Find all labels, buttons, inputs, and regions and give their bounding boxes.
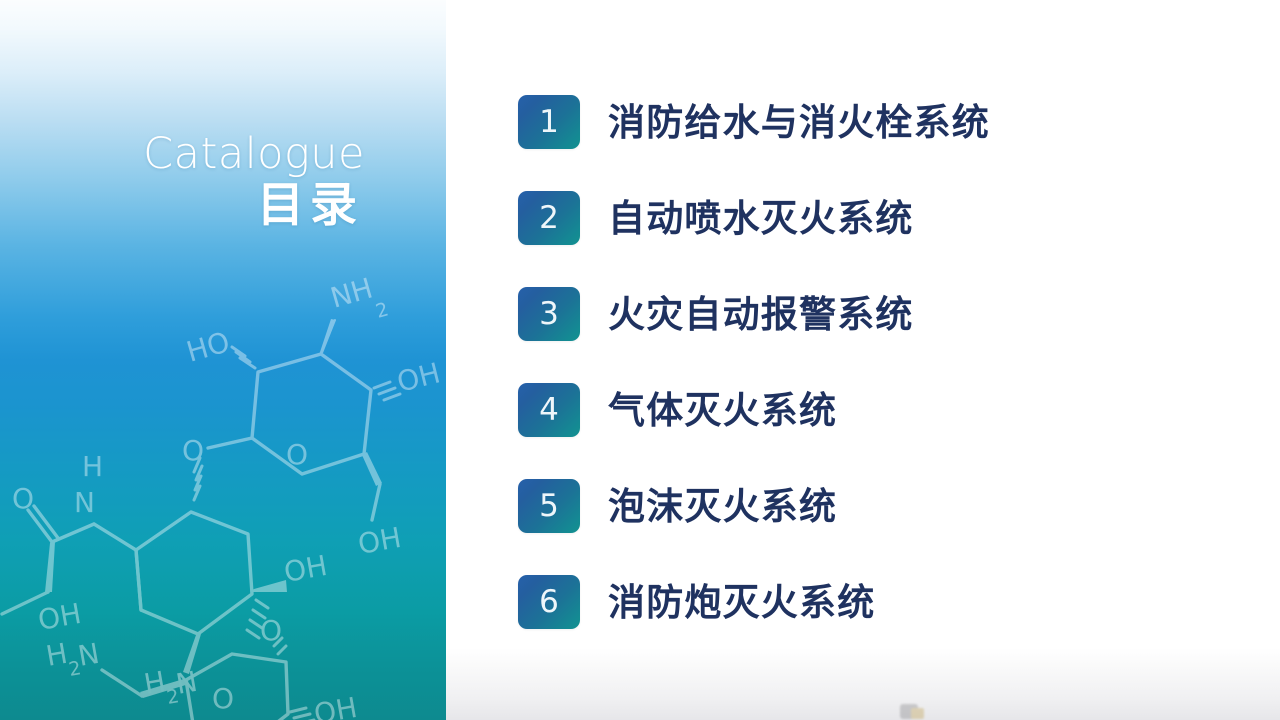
- toc-item-label-3[interactable]: 火灾自动报警系统: [608, 296, 914, 333]
- svg-text:HO: HO: [183, 325, 234, 369]
- svg-text:OH: OH: [281, 549, 329, 589]
- left-gradient-panel: HO NH 2 OH O O OH O N H OH OH H 2 N O H …: [0, 0, 446, 720]
- svg-text:O: O: [260, 614, 282, 647]
- toc-item-4[interactable]: 4 气体灭火系统: [518, 383, 1238, 437]
- toc-item-1[interactable]: 1 消防给水与消火栓系统: [518, 95, 1238, 149]
- toc-item-label-2[interactable]: 自动喷水灭火系统: [608, 200, 914, 237]
- svg-text:O: O: [286, 438, 308, 471]
- toc-item-2[interactable]: 2 自动喷水灭火系统: [518, 191, 1238, 245]
- svg-text:H: H: [141, 665, 167, 701]
- toc-item-6[interactable]: 6 消防炮灭火系统: [518, 575, 1238, 629]
- svg-text:O: O: [212, 682, 234, 715]
- watermark-icon: [896, 700, 942, 720]
- svg-text:N: N: [75, 637, 101, 673]
- toc-item-5[interactable]: 5 泡沫灭火系统: [518, 479, 1238, 533]
- toc-number-badge-1: 1: [518, 95, 580, 149]
- svg-text:OH: OH: [35, 597, 83, 637]
- catalogue-title-english: Catalogue: [25, 132, 365, 178]
- svg-text:NH: NH: [327, 271, 376, 314]
- svg-text:O: O: [12, 482, 34, 515]
- toc-item-3[interactable]: 3 火灾自动报警系统: [518, 287, 1238, 341]
- toc-list: 1 消防给水与消火栓系统 2 自动喷水灭火系统 3 火灾自动报警系统 4 气体灭…: [518, 95, 1238, 629]
- toc-item-label-1[interactable]: 消防给水与消火栓系统: [608, 104, 990, 141]
- toc-item-label-6[interactable]: 消防炮灭火系统: [608, 584, 875, 621]
- toc-number-badge-4: 4: [518, 383, 580, 437]
- toc-number-badge-3: 3: [518, 287, 580, 341]
- catalogue-title-chinese: 目录: [25, 180, 365, 233]
- svg-text:O: O: [182, 434, 204, 467]
- toc-number-badge-6: 6: [518, 575, 580, 629]
- svg-text:N: N: [74, 486, 95, 519]
- watermark-shape-gold: [911, 708, 924, 719]
- toc-item-label-5[interactable]: 泡沫灭火系统: [608, 488, 837, 525]
- svg-text:OH: OH: [394, 356, 444, 398]
- table-of-contents-panel: 1 消防给水与消火栓系统 2 自动喷水灭火系统 3 火灾自动报警系统 4 气体灭…: [446, 0, 1280, 720]
- toc-item-label-4[interactable]: 气体灭火系统: [608, 392, 837, 429]
- svg-text:H: H: [43, 637, 69, 673]
- svg-text:2: 2: [373, 298, 391, 322]
- svg-text:N: N: [173, 665, 199, 701]
- toc-number-badge-2: 2: [518, 191, 580, 245]
- svg-text:OH: OH: [311, 691, 359, 720]
- catalogue-heading-block: Catalogue 目录: [25, 132, 365, 232]
- molecular-structure-decoration: HO NH 2 OH O O OH O N H OH OH H 2 N O H …: [0, 262, 446, 720]
- svg-text:OH: OH: [355, 521, 403, 561]
- presentation-slide: HO NH 2 OH O O OH O N H OH OH H 2 N O H …: [0, 0, 1280, 720]
- svg-text:H: H: [82, 450, 103, 483]
- toc-number-badge-5: 5: [518, 479, 580, 533]
